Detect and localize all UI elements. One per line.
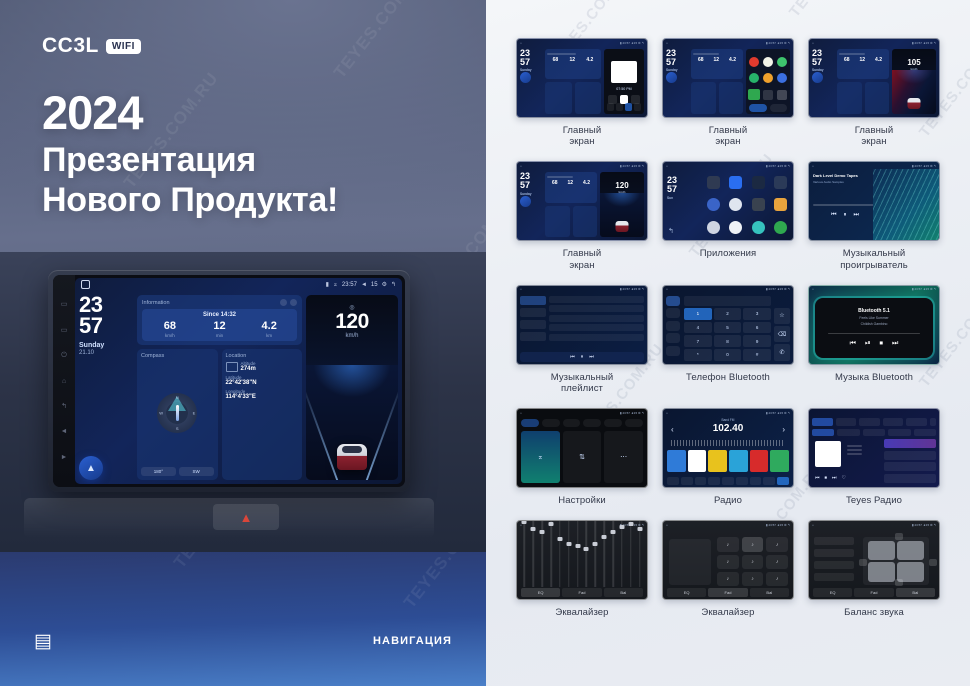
car-graphic — [337, 444, 367, 470]
preset-4[interactable] — [729, 450, 748, 472]
speed-panel[interactable]: ◎ 120 km/h — [306, 295, 398, 480]
gallery-caption: Музыкальныйплейлист — [551, 372, 614, 394]
product-logo: CC3L WIFI — [42, 34, 141, 58]
status-bar: ▮ ⌅ 23:57 ◄ 15 ⚙ ↰ — [75, 278, 402, 291]
thumbnail-radio[interactable]: ⌂▮ 23:57 ◄15 ⚙ ↰ Band FM 102.40 ‹ › — [662, 408, 794, 488]
preset-1[interactable] — [667, 450, 686, 472]
radio-frequency-display: Band FM 102.40 — [663, 418, 793, 434]
location-card[interactable]: Location Altitude 274m — [222, 349, 303, 480]
radio-tool-af[interactable] — [750, 477, 762, 485]
previous-icon[interactable]: ⏮ — [815, 475, 820, 481]
gallery-caption: Teyes Радио — [846, 495, 902, 506]
navigation-arrow-icon[interactable]: ▲ — [79, 456, 103, 480]
clock-date: 21.10 — [79, 350, 133, 356]
tab-sound[interactable] — [542, 419, 560, 427]
app-icon-youtube[interactable] — [749, 57, 759, 67]
preset-6[interactable] — [770, 450, 789, 472]
balance-presets[interactable] — [814, 537, 854, 585]
bt-track-artist: Childish Gambino — [861, 322, 888, 326]
compass-north: N — [176, 395, 179, 400]
radio-frequency: 102.40 — [713, 423, 744, 434]
visualizer — [873, 169, 939, 240]
favorite-star-icon[interactable]: ☆ — [774, 308, 790, 324]
altitude-value: 274m — [241, 366, 256, 372]
thumbnail-equalizer-presets[interactable]: ⌂▮ 23:57 ◄15 ⚙ ↰ ♪ ♪ ♪ ♪ ♪ ♪ ♪ ♪ ♪ E — [662, 520, 794, 600]
road-visual — [600, 193, 644, 237]
filter-jazz[interactable] — [863, 429, 885, 436]
logo-wifi-badge: WIFI — [106, 39, 141, 54]
thumbnail-music-playlist[interactable]: ⌂▮ 23:57 ◄15 ⚙ ↰ — [516, 285, 648, 365]
balance-rear-icon[interactable] — [895, 579, 903, 586]
tab-countries[interactable] — [859, 418, 880, 426]
eq-band-6[interactable] — [565, 520, 572, 587]
thumbnail-home-speed[interactable]: ⌂▮ 23:57 ◄15 ⚙ ↰ 2357Sunday 68124.2 120k… — [516, 161, 648, 241]
gallery-panel: TEYES.COM.RU TEYES.COM.RU TEYES.COM.RU T… — [486, 0, 970, 686]
thumbnail-home-apps[interactable]: ⌂▮ 23:57 ◄15 ⚙ ↰ 2357Sunday 68124.2 — [662, 38, 794, 118]
bezel-back-icon[interactable]: ↰ — [61, 403, 67, 410]
dialpad-keys[interactable]: 1 2 3 4 5 6 7 8 9 * 0 # — [684, 308, 771, 361]
tab-history[interactable] — [906, 418, 927, 426]
filter-talk[interactable] — [914, 429, 936, 436]
sidebar-item-folders[interactable] — [520, 332, 546, 341]
list-item[interactable] — [884, 451, 936, 460]
location-altitude-row: Altitude 274m — [226, 361, 299, 372]
tab-all[interactable] — [812, 418, 833, 426]
thumbnail-sound-balance[interactable]: ⌂▮ 23:57 ◄15 ⚙ ↰ — [808, 520, 940, 600]
radio-presets[interactable] — [667, 450, 789, 472]
previous-icon[interactable]: ⏮ — [850, 340, 856, 348]
preset-2[interactable] — [688, 450, 707, 472]
next-station-icon[interactable]: › — [782, 425, 785, 434]
previous-icon[interactable]: ⏮ — [570, 354, 575, 360]
gallery-item[interactable]: ⌂▮ 23:57 ◄15 ⚙ ↰ 2357Sunday 68124.2 07:5… — [512, 38, 652, 147]
gallery-caption: Приложения — [700, 248, 757, 259]
speaker-front-right[interactable] — [897, 541, 923, 560]
app-icon-yandex[interactable] — [763, 57, 773, 67]
wifi-icon: ⌅ — [333, 281, 338, 288]
playlist-sidebar[interactable] — [520, 296, 546, 344]
equalizer-sliders[interactable] — [521, 535, 643, 587]
compass-title: Compass — [141, 353, 214, 359]
thumbnail-bluetooth-phone[interactable]: ⌂▮ 23:57 ◄15 ⚙ ↰ 1 2 3 4 5 — [662, 285, 794, 365]
eq-tab-bands[interactable]: EQ — [521, 588, 560, 597]
sidebar-item-artists[interactable] — [520, 308, 546, 317]
teyes-radio-tabs[interactable] — [812, 418, 936, 426]
location-latitude-row: Latitude 22°42'38"N — [226, 375, 299, 386]
next-icon[interactable]: ⏭ — [892, 340, 898, 348]
gear-icon[interactable]: ⚙ — [382, 281, 387, 288]
layers-icon[interactable]: ▤ — [34, 632, 52, 651]
sidebar-item-recents[interactable] — [666, 333, 680, 343]
dialpad-key-2[interactable]: 2 — [714, 308, 742, 320]
tab-apps[interactable] — [583, 419, 601, 427]
eq-band-13[interactable] — [627, 520, 634, 587]
thumbnail-music-player[interactable]: ⌂▮ 23:57 ◄15 ⚙ ↰ Dark Level Demo Tapes V… — [808, 161, 940, 241]
eq-band-9[interactable] — [592, 520, 599, 587]
filter-news[interactable] — [888, 429, 910, 436]
balance-pad[interactable] — [863, 537, 929, 585]
list-item[interactable] — [549, 296, 644, 303]
dialpad-key-5[interactable]: 5 — [714, 322, 742, 334]
play-pause-icon[interactable]: ⏸ — [581, 354, 584, 360]
gallery-caption: Главныйэкран — [709, 125, 748, 147]
radio-tool-eq[interactable] — [708, 477, 720, 485]
eq-band-1[interactable] — [521, 520, 528, 587]
eq-band-5[interactable] — [556, 520, 563, 587]
gallery-caption: Главныйэкран — [855, 125, 894, 147]
sidebar-item-contacts[interactable] — [666, 308, 680, 318]
refresh-icon[interactable] — [280, 299, 287, 306]
preset-flat[interactable]: ♪ — [717, 537, 739, 551]
stop-icon[interactable]: ⏹ — [880, 340, 884, 348]
balance-front-icon[interactable] — [895, 533, 903, 540]
app-icon-music[interactable] — [752, 221, 765, 234]
information-card[interactable]: Information Since 14:32 — [137, 295, 302, 345]
gallery-caption: Музыкальныйпроигрыватель — [840, 248, 908, 270]
radio-band: Band FM — [663, 418, 793, 422]
compass-heading: 180° — [141, 467, 176, 476]
eq-tab-bands[interactable]: EQ — [667, 588, 706, 597]
gallery-caption: Телефон Bluetooth — [686, 372, 770, 383]
track-title: Dark Level Demo Tapes — [813, 173, 877, 178]
bluetooth-card: Bluetooth 5.1 Feels Like Summer Childish… — [815, 298, 933, 358]
gallery-item[interactable]: ⌂▮ 23:57 ◄15 ⚙ ↰ 2357Sunday 68124.2 — [658, 38, 798, 147]
thumbnail-home-music[interactable]: ⌂▮ 23:57 ◄15 ⚙ ↰ 2357Sunday 68124.2 07:5… — [516, 38, 648, 118]
bezel-power-icon[interactable]: ⏻ — [61, 352, 67, 359]
app-icon-maps[interactable] — [777, 57, 787, 67]
radio-tool-rds[interactable] — [722, 477, 734, 485]
eq-tab-balance[interactable]: Bal — [896, 588, 935, 597]
eq-tab-balance[interactable]: Bal — [750, 588, 789, 597]
navigation-arrow-icon — [520, 72, 531, 83]
tab-display[interactable] — [563, 419, 581, 427]
eq-band-3[interactable] — [539, 520, 546, 587]
station-meta — [847, 443, 875, 457]
volume-icon: ◄ — [361, 282, 367, 288]
compass-south: S — [176, 426, 179, 431]
thumbnail-bluetooth-music[interactable]: ⌂▮ 23:57 ◄15 ⚙ ↰ Bluetooth 5.1 Feels Lik… — [808, 285, 940, 365]
backspace-icon[interactable]: ⌫ — [774, 326, 790, 342]
preset-jazz[interactable]: ♪ — [742, 555, 764, 569]
player-time: 07:50 PM — [604, 87, 644, 91]
sidebar-item-dialpad[interactable] — [666, 296, 680, 306]
preset-dance[interactable]: ♪ — [717, 572, 739, 586]
list-item[interactable] — [549, 305, 644, 312]
eq-band-14[interactable] — [636, 520, 643, 587]
compass-dial: N S W E — [157, 393, 197, 433]
speaker-rear-left[interactable] — [868, 562, 894, 581]
footer-navigation-label: НАВИГАЦИЯ — [373, 635, 452, 647]
bass-treble-sliders[interactable] — [669, 539, 711, 585]
eq-tab-bands[interactable]: EQ — [813, 588, 852, 597]
dialpad-key-8[interactable]: 8 — [714, 335, 742, 347]
headline-line-1: Презентация — [42, 141, 338, 180]
app-icon-file-manager[interactable] — [774, 198, 787, 211]
next-icon[interactable]: ⏭ — [854, 212, 859, 219]
bezel-volume-down-icon[interactable]: ◄ — [61, 428, 68, 435]
stat-distance: 4.2 km — [244, 321, 294, 338]
balance-preset-rear[interactable] — [814, 561, 854, 569]
home-icon[interactable] — [81, 280, 90, 289]
bezel-menu-icon[interactable]: ▭ — [61, 301, 68, 308]
app-icon-gallery[interactable] — [707, 221, 720, 234]
gallery-caption: Настройки — [558, 495, 605, 506]
back-arrow-icon[interactable]: ↰ — [391, 281, 396, 288]
eq-tab-fader[interactable]: Fad — [562, 588, 601, 597]
next-icon[interactable]: ⏭ — [832, 475, 837, 481]
eq-band-4[interactable] — [548, 520, 555, 587]
headline-line-2: Нового Продукта! — [42, 181, 338, 220]
clock-column: 23 57 Sunday 21.10 ▲ — [79, 295, 133, 480]
gallery-item[interactable]: ⌂▮ 23:57 ◄15 ⚙ ↰ 2357Sun ↰ — [658, 161, 798, 270]
gallery-caption: Эквалайзер — [701, 607, 754, 618]
preset-custom[interactable]: ♪ — [766, 572, 788, 586]
eq-tab-fader[interactable]: Fad — [708, 588, 747, 597]
preset-3[interactable] — [708, 450, 727, 472]
favorite-heart-icon[interactable]: ♡ — [842, 475, 846, 481]
hazard-button[interactable]: ▲ — [213, 504, 279, 530]
radio-tool-band[interactable] — [667, 477, 679, 485]
call-icon[interactable]: ✆ — [774, 344, 790, 360]
play-pause-icon[interactable]: ⏸ — [843, 212, 846, 219]
bezel-volume-up-icon[interactable]: ► — [61, 454, 68, 461]
gallery-item[interactable]: ⌂▮ 23:57 ◄15 ⚙ ↰ 2357Sunday 68124.2 120k… — [512, 161, 652, 270]
signal-icon: ▮ — [326, 281, 329, 288]
radio-tool-list[interactable] — [777, 477, 789, 485]
app-icon-google-play[interactable] — [748, 89, 760, 100]
settings-tabs[interactable] — [521, 419, 643, 427]
logo-model-text: CC3L — [42, 34, 99, 58]
gallery-item[interactable]: ⌂▮ 23:57 ◄15 ⚙ ↰ Bluetooth 5.1 Feels Lik… — [804, 285, 944, 394]
gallery-caption: Радио — [714, 495, 742, 506]
settings-card-wifi[interactable]: ⌅ — [521, 431, 560, 483]
thumbnail-equalizer-sliders[interactable]: ⌂▮ 23:57 ◄15 ⚙ ↰ — [516, 520, 648, 600]
eq-band-8[interactable] — [583, 520, 590, 587]
play-pause-icon[interactable]: ⏯ — [865, 340, 871, 348]
frequency-scale[interactable] — [671, 440, 785, 446]
preset-vocal[interactable]: ♪ — [766, 555, 788, 569]
information-since: Since 14:32 — [145, 312, 294, 318]
preset-5[interactable] — [750, 450, 769, 472]
gallery-item[interactable]: ⌂▮ 23:57 ◄15 ⚙ ↰ 2357Sunday 68124.2 105k… — [804, 38, 944, 147]
preset-pop[interactable]: ♪ — [766, 537, 788, 551]
app-icon-mail[interactable] — [777, 73, 787, 83]
app-icon-all-apps[interactable] — [777, 90, 787, 100]
app-grid[interactable] — [704, 172, 790, 237]
list-item[interactable] — [884, 474, 936, 483]
stat-duration: 12 min — [195, 321, 245, 338]
track-list[interactable] — [549, 296, 644, 351]
thumb-clock: 2357Sunday — [520, 49, 542, 114]
gallery-item[interactable]: ⌂▮ 23:57 ◄15 ⚙ ↰ ⌅ ⇅ ⋯ — [512, 408, 652, 506]
eq-tab-balance[interactable]: Bal — [604, 588, 643, 597]
dialpad-key-star[interactable]: * — [684, 349, 712, 361]
dialpad-key-6[interactable]: 6 — [743, 322, 771, 334]
gallery-item[interactable]: ⌂▮ 23:57 ◄15 ⚙ ↰ 1 2 3 4 5 — [658, 285, 798, 394]
sidebar-item-tracks[interactable] — [520, 296, 546, 305]
screenshot-grid: ⌂▮ 23:57 ◄15 ⚙ ↰ 2357Sunday 68124.2 07:5… — [486, 0, 970, 633]
gallery-caption: Баланс звука — [844, 607, 904, 618]
status-volume: 15 — [371, 282, 378, 288]
thumbnail-teyes-radio[interactable]: ⏮ ⏹ ⏭ ♡ — [808, 408, 940, 488]
head-unit-bezel-buttons[interactable]: ▭ ▭ ⏻ ⌂ ↰ ◄ ► — [53, 275, 75, 487]
app-icon-messages[interactable] — [707, 176, 720, 189]
compass-east: E — [193, 410, 196, 415]
eq-band-10[interactable] — [601, 520, 608, 587]
phone-sidebar[interactable] — [666, 296, 680, 359]
head-unit-screen[interactable]: ▮ ⌅ 23:57 ◄ 15 ⚙ ↰ 23 57 — [75, 278, 402, 484]
tab-favorites[interactable] — [883, 418, 904, 426]
gallery-caption: Главныйэкран — [563, 125, 602, 147]
balance-preset-driver[interactable] — [814, 537, 854, 545]
progress-bar[interactable] — [828, 333, 920, 335]
eq-band-12[interactable] — [618, 520, 625, 587]
gallery-item[interactable]: ⌂▮ 23:57 ◄15 ⚙ ↰ Dark Level Demo Tapes V… — [804, 161, 944, 270]
sidebar-item-favorites[interactable] — [520, 320, 546, 329]
eq-band-11[interactable] — [610, 520, 617, 587]
app-icon-store[interactable] — [763, 73, 773, 83]
phone-number-input[interactable] — [684, 296, 771, 306]
eq-band-2[interactable] — [530, 520, 537, 587]
list-item[interactable] — [549, 315, 644, 322]
dialpad-key-0[interactable]: 0 — [714, 349, 742, 361]
road-visual — [892, 70, 936, 114]
filter-pop[interactable] — [812, 429, 834, 436]
balance-preset-all[interactable] — [814, 573, 854, 581]
compass-card[interactable]: Compass N S W E — [137, 349, 218, 480]
thumbnail-settings[interactable]: ⌂▮ 23:57 ◄15 ⚙ ↰ ⌅ ⇅ ⋯ — [516, 408, 648, 488]
previous-icon[interactable]: ⏮ — [831, 212, 836, 219]
thumbnail-apps[interactable]: ⌂▮ 23:57 ◄15 ⚙ ↰ 2357Sun ↰ — [662, 161, 794, 241]
speaker-front-left[interactable] — [868, 541, 894, 560]
app-icon-calculator[interactable] — [774, 176, 787, 189]
radio-tool-loc[interactable] — [695, 477, 707, 485]
station-list[interactable] — [884, 439, 936, 484]
progress-bar[interactable] — [813, 204, 877, 206]
mountain-icon — [226, 362, 238, 372]
back-arrow-icon[interactable]: ↰ — [668, 227, 674, 235]
radio-tool-ta[interactable] — [736, 477, 748, 485]
dialpad-key-hash[interactable]: # — [743, 349, 771, 361]
list-item[interactable] — [549, 324, 644, 331]
information-title: Information — [142, 300, 170, 306]
gallery-item[interactable]: ⌂▮ 23:57 ◄15 ⚙ ↰ — [512, 285, 652, 394]
app-icon-dvr[interactable] — [752, 198, 765, 211]
eq-tab-fader[interactable]: Fad — [854, 588, 893, 597]
clock-day: Sunday — [79, 342, 133, 349]
tab-personal[interactable] — [604, 419, 622, 427]
gallery-caption: Главныйэкран — [563, 248, 602, 270]
bluetooth-version: Bluetooth 5.1 — [858, 308, 890, 314]
dialpad-key-1[interactable]: 1 — [684, 308, 712, 320]
track-artist: Various Audio Samples — [813, 180, 877, 184]
speed-value: 120 — [306, 311, 398, 332]
longitude-value: 114°4'33"E — [226, 394, 299, 400]
hero-panel: TEYES.COM.RU TEYES.COM.RU TEYES.COM.RU T… — [0, 0, 486, 686]
previous-station-icon[interactable]: ‹ — [671, 425, 674, 434]
back-arrow-icon[interactable] — [930, 418, 936, 426]
list-item[interactable] — [549, 334, 644, 341]
compass-west: W — [159, 410, 163, 415]
app-icon-placeholder[interactable] — [763, 90, 773, 100]
bt-track-title: Feels Like Summer — [859, 316, 888, 320]
headline-block: 2024 Презентация Нового Продукта! — [42, 88, 338, 220]
gallery-item[interactable]: ⌂▮ 23:57 ◄15 ⚙ ↰ Band FM 102.40 ‹ › — [658, 408, 798, 506]
gallery-item[interactable]: ⌂▮ 23:57 ◄15 ⚙ ↰ ♪ ♪ ♪ ♪ ♪ ♪ ♪ ♪ ♪ E — [658, 520, 798, 618]
bezel-mute-icon[interactable]: ▭ — [61, 327, 68, 334]
location-title: Location — [226, 353, 299, 359]
app-icon-google[interactable] — [729, 221, 742, 234]
radio-tool-search[interactable] — [681, 477, 693, 485]
tab-wifi[interactable] — [521, 419, 539, 427]
app-icon-chrome[interactable] — [729, 198, 742, 211]
location-longitude-row: Longitude 114°4'33"E — [226, 389, 299, 400]
gallery-item[interactable]: ⌂▮ 23:57 ◄15 ⚙ ↰ — [804, 520, 944, 618]
clock-minutes: 57 — [79, 316, 133, 337]
headline-year: 2024 — [42, 88, 338, 137]
app-icon-camera[interactable] — [707, 198, 720, 211]
app-icon-play-store[interactable] — [774, 221, 787, 234]
gallery-item[interactable]: ⏮ ⏹ ⏭ ♡ Teyes Радио — [804, 408, 944, 506]
playback-controls[interactable]: ⏮ ⏸ ⏭ — [520, 352, 644, 362]
expand-icon[interactable] — [290, 299, 297, 306]
latitude-value: 22°42'38"N — [226, 380, 299, 386]
dialpad-key-7[interactable]: 7 — [684, 335, 712, 347]
balance-preset-front[interactable] — [814, 549, 854, 557]
eq-band-7[interactable] — [574, 520, 581, 587]
preset-bass[interactable]: ♪ — [742, 572, 764, 586]
stat-speed: 68 km/h — [145, 321, 195, 338]
settings-card-traffic[interactable]: ⇅ — [563, 431, 602, 483]
app-icon-bluetooth-music[interactable] — [752, 176, 765, 189]
app-icon-spotify[interactable] — [749, 73, 759, 83]
album-art — [815, 441, 841, 467]
preset-classic[interactable]: ♪ — [742, 537, 764, 551]
next-icon[interactable]: ⏭ — [589, 354, 594, 360]
radio-tool-settings[interactable] — [763, 477, 775, 485]
thumbnail-home-speed-red[interactable]: ⌂▮ 23:57 ◄15 ⚙ ↰ 2357Sunday 68124.2 105k… — [808, 38, 940, 118]
car-dashboard: ▭ ▭ ⏻ ⌂ ↰ ◄ ► ▮ ⌅ 2 — [0, 252, 486, 552]
dialpad-key-9[interactable]: 9 — [743, 335, 771, 347]
list-item[interactable] — [884, 439, 936, 448]
settings-card-more[interactable]: ⋯ — [604, 431, 643, 483]
tab-system[interactable] — [625, 419, 643, 427]
album-art — [611, 61, 637, 83]
sidebar-item-settings[interactable] — [666, 346, 680, 356]
compass-direction: SW — [179, 467, 214, 476]
app-icon-bluetooth[interactable] — [729, 176, 742, 189]
preset-rock[interactable]: ♪ — [717, 555, 739, 569]
gallery-caption: Музыка Bluetooth — [835, 372, 913, 383]
list-item[interactable] — [884, 462, 936, 471]
stop-icon[interactable]: ⏹ — [825, 475, 828, 481]
preset-grid[interactable]: ♪ ♪ ♪ ♪ ♪ ♪ ♪ ♪ ♪ — [717, 537, 788, 586]
tab-genres[interactable] — [836, 418, 857, 426]
gallery-item[interactable]: ⌂▮ 23:57 ◄15 ⚙ ↰ — [512, 520, 652, 618]
dialpad-key-4[interactable]: 4 — [684, 322, 712, 334]
hero-footer: ▤ НАВИГАЦИЯ — [0, 626, 486, 656]
bezel-home-icon[interactable]: ⌂ — [62, 378, 66, 385]
balance-right-icon[interactable] — [929, 559, 937, 566]
sidebar-item-search[interactable] — [666, 321, 680, 331]
dialpad-key-3[interactable]: 3 — [743, 308, 771, 320]
head-unit-device: ▭ ▭ ⏻ ⌂ ↰ ◄ ► ▮ ⌅ 2 — [48, 270, 410, 492]
speed-unit: km/h — [306, 333, 398, 339]
presentation-page: TEYES.COM.RU TEYES.COM.RU TEYES.COM.RU T… — [0, 0, 970, 686]
balance-left-icon[interactable] — [859, 559, 867, 566]
status-time: 23:57 — [342, 282, 357, 288]
filter-rock[interactable] — [837, 429, 859, 436]
